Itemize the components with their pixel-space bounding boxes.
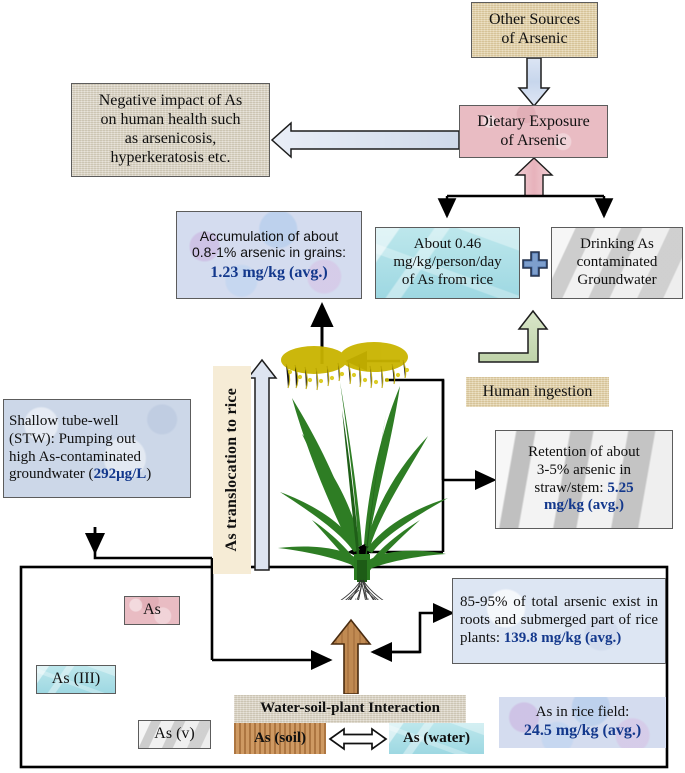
node-other-sources[interactable]: Other Sources of Arsenic <box>471 2 598 58</box>
arrow-intake-to-dietary <box>516 158 552 196</box>
node-as-translocation[interactable]: As translocation to rice <box>213 366 251 574</box>
node-as-in-rice-field[interactable]: As in rice field: 24.5 mg/kg (avg.) <box>499 697 666 748</box>
plus-icon <box>521 250 549 278</box>
negative-impact-line3: as arsenicosis, <box>77 130 264 149</box>
accumulation-line1: Accumulation of about <box>182 228 356 245</box>
arrow-soil-to-roots <box>329 618 373 694</box>
retention-line3: straw/stem: 5.25 <box>501 480 667 498</box>
node-roots-content[interactable]: 85-95% of total arsenic exist in roots a… <box>452 578 666 664</box>
retention-value: 5.25 <box>607 480 633 496</box>
stw-line4-post: ) <box>146 466 151 482</box>
intake-line3: of As from rice <box>381 272 514 290</box>
node-human-ingestion[interactable]: Human ingestion <box>466 377 609 407</box>
stw-concentration-value: 292μg/L <box>94 466 147 482</box>
rice-field-value: 24.5 mg/kg (avg.) <box>504 722 661 741</box>
arrow-dietary-to-health-impact <box>272 123 459 157</box>
negative-impact-line2: on human health such <box>77 111 264 130</box>
stw-line1: Shallow tube-well <box>9 413 185 431</box>
retention-unit: mg/kg (avg.) <box>501 497 667 515</box>
drinking-line3: Groundwater <box>557 272 677 290</box>
dietary-exposure-line1: Dietary Exposure <box>465 113 602 132</box>
drinking-line1: Drinking As <box>557 236 677 254</box>
node-drinking-groundwater[interactable]: Drinking As contaminated Groundwater <box>551 227 683 299</box>
diagram-canvas: Other Sources of Arsenic Dietary Exposur… <box>0 0 685 773</box>
retention-line2: 3-5% arsenic in <box>501 462 667 480</box>
water-soil-plant-label: Water-soil-plant Interaction <box>260 700 440 716</box>
other-sources-line1: Other Sources <box>477 11 592 30</box>
drinking-line2: contaminated <box>557 254 677 272</box>
legend-as-v-label: As (v) <box>154 725 194 742</box>
node-as-water[interactable]: As (water) <box>389 723 484 754</box>
stw-line4-pre: groundwater ( <box>9 466 94 482</box>
negative-impact-line4: hyperkeratosis etc. <box>77 149 264 168</box>
negative-impact-line1: Negative impact of As <box>77 92 264 111</box>
node-intake-from-rice[interactable]: About 0.46 mg/kg/person/day of As from r… <box>375 227 520 299</box>
intake-line2: mg/kg/person/day <box>381 254 514 272</box>
intake-line1: About 0.46 <box>381 236 514 254</box>
accumulation-line2: 0.8-1% arsenic in grains: <box>182 244 356 261</box>
retention-line1: Retention of about <box>501 444 667 462</box>
stw-line4: groundwater (292μg/L) <box>9 466 185 484</box>
stw-line2: (STW): Pumping out <box>9 431 185 449</box>
retention-line3-pre: straw/stem: <box>534 480 607 496</box>
rice-plant-illustration <box>262 330 462 600</box>
legend-as-iii-label: As (III) <box>52 670 100 687</box>
other-sources-line2: of Arsenic <box>477 30 592 49</box>
arrow-groundwater-to-human-ingestion <box>479 311 547 362</box>
as-water-label: As (water) <box>403 730 470 746</box>
as-soil-label: As (soil) <box>254 730 306 746</box>
arrow-other-sources-to-dietary <box>519 58 549 106</box>
line-stw-to-field <box>95 527 212 558</box>
node-shallow-tube-well[interactable]: Shallow tube-well (STW): Pumping out hig… <box>3 399 191 498</box>
legend-chip-as-iii[interactable]: As (III) <box>36 665 116 694</box>
legend-chip-as-v[interactable]: As (v) <box>138 720 211 749</box>
dietary-exposure-line2: of Arsenic <box>465 132 602 151</box>
as-translocation-label: As translocation to rice <box>223 388 241 551</box>
legend-as-label: As <box>143 601 161 618</box>
node-straw-retention[interactable]: Retention of about 3-5% arsenic in straw… <box>495 430 673 529</box>
double-headed-arrow-icon <box>328 726 388 752</box>
node-as-soil[interactable]: As (soil) <box>234 723 326 754</box>
legend-chip-as[interactable]: As <box>124 596 180 625</box>
accumulation-value: 1.23 mg/kg (avg.) <box>182 264 356 283</box>
node-grain-accumulation[interactable]: Accumulation of about 0.8-1% arsenic in … <box>176 211 362 299</box>
node-water-soil-plant-interaction: Water-soil-plant Interaction <box>234 695 466 723</box>
human-ingestion-label: Human ingestion <box>483 383 593 400</box>
roots-value: 139.8 mg/kg (avg.) <box>504 630 622 646</box>
rice-field-line1: As in rice field: <box>504 704 661 722</box>
arrow-roots-to-root-content <box>373 613 452 652</box>
node-dietary-exposure[interactable]: Dietary Exposure of Arsenic <box>459 105 608 158</box>
node-negative-health-impact[interactable]: Negative impact of As on human health su… <box>71 83 270 177</box>
stw-line3: high As-contaminated <box>9 449 185 467</box>
